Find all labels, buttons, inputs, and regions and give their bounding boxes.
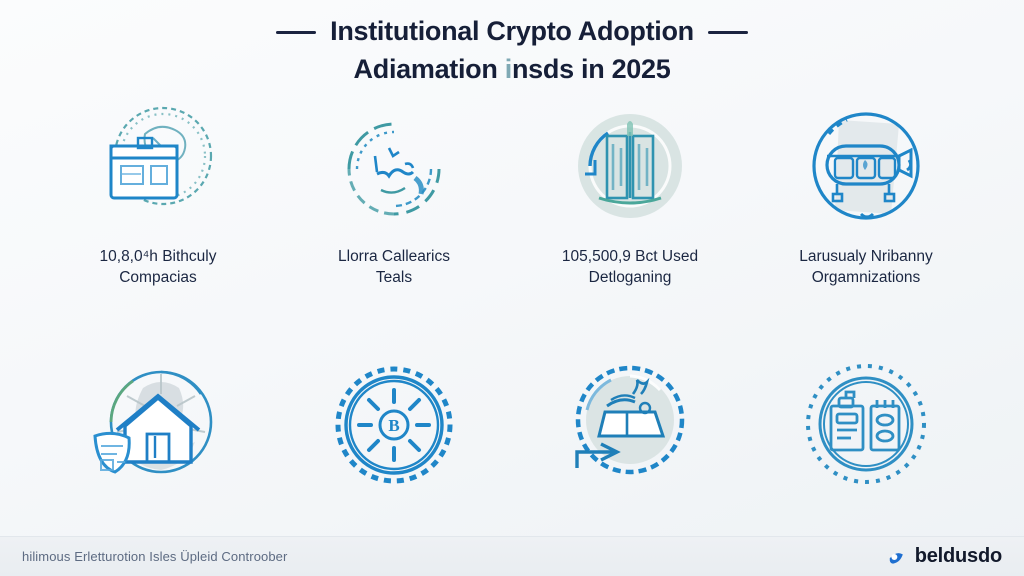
growth-arrow-gear-icon xyxy=(555,350,705,500)
grid-item-3-label-line1: 105,500,9 Bct Used xyxy=(562,248,698,265)
grid-item-2-label-line2: Teals xyxy=(338,267,450,288)
infographic-canvas: Institutional Crypto Adoption Adiamation… xyxy=(0,0,1024,576)
grid-item-1-label: 10,8,0⁴h Bithculy Compacias xyxy=(100,246,217,288)
bitcoin-coin-icon: B xyxy=(319,350,469,500)
house-shield-icon xyxy=(83,350,233,500)
vault-capsule-icon xyxy=(791,94,941,244)
grid-item-1-label-line2: Compacias xyxy=(100,267,217,288)
grid-item-8 xyxy=(748,315,984,536)
title-dash-left xyxy=(276,31,316,34)
tower-columns-icon xyxy=(555,94,705,244)
grid-item-7 xyxy=(512,315,748,536)
grid-item-3: 105,500,9 Bct Used Detloganing xyxy=(512,94,748,315)
brand-logo[interactable]: beldusdo xyxy=(882,544,1002,570)
footer-bar: hilimous Erletturotion Isles Üpleid Cont… xyxy=(0,536,1024,576)
grid-item-6: B xyxy=(276,315,512,536)
grid-item-4-label-line2: Orgamnizations xyxy=(799,267,933,288)
title-text-secondary-a: Adiamation xyxy=(354,54,505,84)
swirl-logo-icon xyxy=(882,544,908,570)
title-line-1: Institutional Crypto Adoption xyxy=(0,12,1024,50)
bank-building-icon xyxy=(83,94,233,244)
grid-item-2-label-line1: Llorra Callearics xyxy=(338,248,450,265)
grid-item-1-label-line1: 10,8,0⁴h Bithculy xyxy=(100,248,217,265)
grid-item-3-label-line2: Detloganing xyxy=(562,267,698,288)
grid-item-4: Larusualy Nribanny Orgamnizations xyxy=(748,94,984,315)
title-text-accent-letter: i xyxy=(505,54,512,84)
grid-item-2: Llorra Callearics Teals xyxy=(276,94,512,315)
page-title: Institutional Crypto Adoption Adiamation… xyxy=(0,0,1024,88)
grid-item-4-label-line1: Larusualy Nribanny xyxy=(799,248,933,265)
title-dash-right xyxy=(708,31,748,34)
title-text-primary: Institutional Crypto Adoption xyxy=(330,16,694,46)
documents-stamp-icon xyxy=(791,350,941,500)
title-line-2: Adiamation insds in 2025 xyxy=(0,50,1024,88)
globe-network-icon xyxy=(319,94,469,244)
grid-item-4-label: Larusualy Nribanny Orgamnizations xyxy=(799,246,933,288)
grid-item-2-label: Llorra Callearics Teals xyxy=(338,246,450,288)
title-text-secondary-b: nsds in 2025 xyxy=(512,54,670,84)
footer-caption: hilimous Erletturotion Isles Üpleid Cont… xyxy=(22,549,287,564)
grid-item-1: 10,8,0⁴h Bithculy Compacias xyxy=(40,94,276,315)
brand-name: beldusdo xyxy=(915,545,1002,568)
svg-text:B: B xyxy=(388,416,399,435)
icon-grid: 10,8,0⁴h Bithculy Compacias xyxy=(0,88,1024,536)
grid-item-5 xyxy=(40,315,276,536)
grid-item-3-label: 105,500,9 Bct Used Detloganing xyxy=(562,246,698,288)
